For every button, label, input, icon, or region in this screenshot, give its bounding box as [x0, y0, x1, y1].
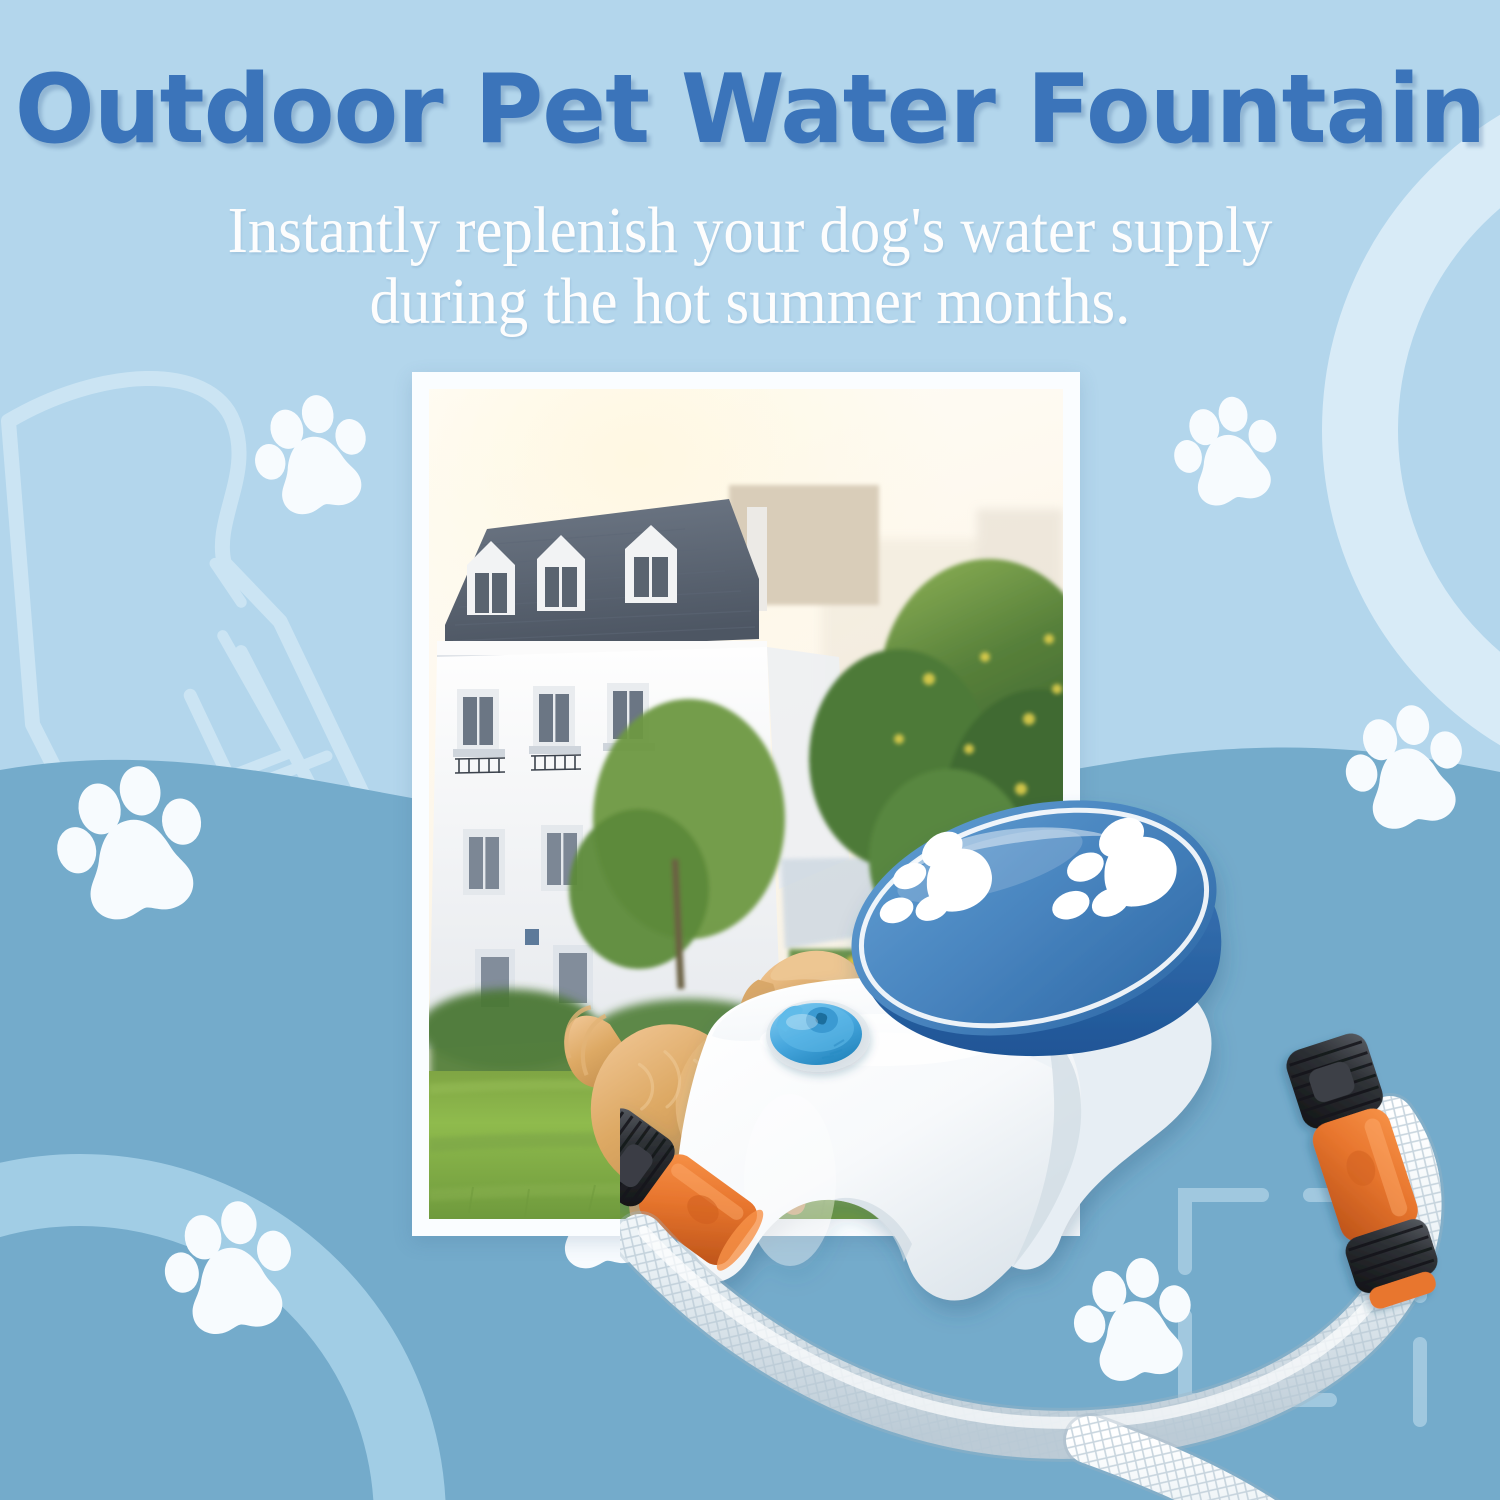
- subheadline-line-2: during the hot summer months.: [97, 266, 1403, 337]
- page-title: Outdoor Pet Water Fountain: [8, 62, 1493, 159]
- hero-photo-card: Fluffy apricot poodle mix running across…: [412, 372, 1080, 1236]
- subheadline-block: Instantly replenish your dog's water sup…: [40, 195, 1460, 338]
- hero-photo-image: Fluffy apricot poodle mix running across…: [429, 389, 1063, 1219]
- headline-block: Outdoor Pet Water Fountain: [0, 62, 1500, 159]
- subheadline-line-1: Instantly replenish your dog's water sup…: [97, 195, 1403, 266]
- product-marketing-poster: Outdoor Pet Water Fountain Instantly rep…: [0, 0, 1500, 1500]
